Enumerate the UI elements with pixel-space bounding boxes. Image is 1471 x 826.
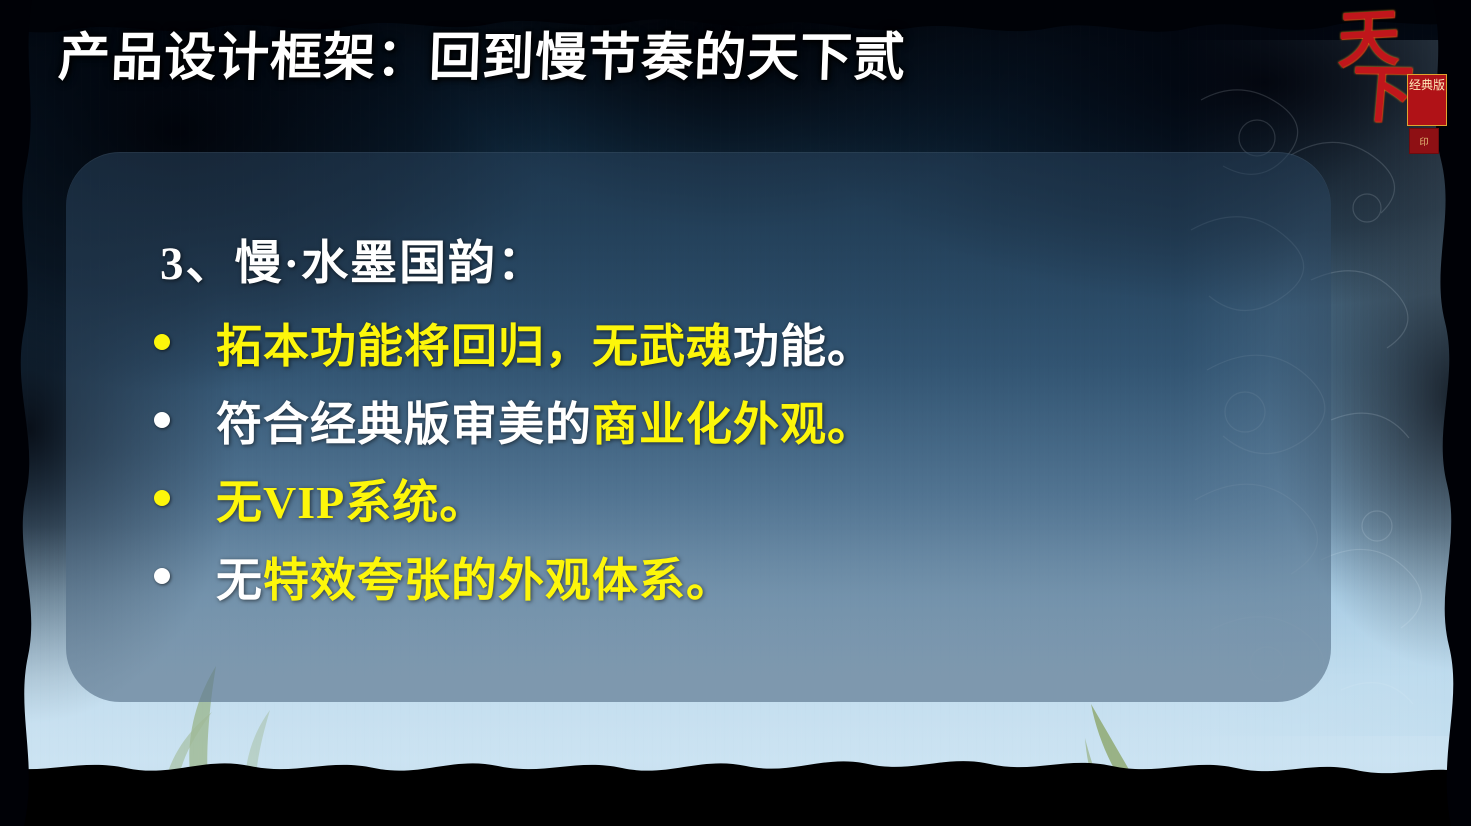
text-segment: 特效夸张的外观体系。	[263, 555, 733, 606]
logo-char-xia: 下	[1348, 67, 1411, 124]
section-heading: 3、慢·水墨国韵：	[160, 232, 1290, 296]
logo-edition-seal: 经典版	[1407, 74, 1447, 126]
page-title: 产品设计框架：回到慢节奏的天下贰	[57, 22, 908, 96]
list-item: 无VIP系统。	[154, 464, 1290, 542]
list-item: 无特效夸张的外观体系。	[154, 542, 1290, 620]
list-item-text: 无VIP系统。	[216, 464, 486, 542]
list-item: 符合经典版审美的商业化外观。	[154, 386, 1290, 464]
list-item: 拓本功能将回归，无武魂功能。	[154, 308, 1290, 386]
logo-stamp-icon: 印	[1409, 128, 1439, 154]
list-item-text: 符合经典版审美的商业化外观。	[216, 386, 874, 464]
list-item-text: 拓本功能将回归，无武魂功能。	[216, 308, 874, 386]
bullet-marker-icon	[154, 490, 170, 506]
bullet-list: 拓本功能将回归，无武魂功能。符合经典版审美的商业化外观。无VIP系统。无特效夸张…	[160, 308, 1290, 620]
bullet-marker-icon	[154, 412, 170, 428]
content-area: 3、慢·水墨国韵： 拓本功能将回归，无武魂功能。符合经典版审美的商业化外观。无V…	[160, 232, 1290, 620]
presentation-slide: 产品设计框架：回到慢节奏的天下贰 天 下 经典版 印 3、慢·水墨国韵： 拓本功…	[0, 0, 1471, 826]
bullet-marker-icon	[154, 334, 170, 350]
text-segment: 无VIP系统。	[216, 477, 486, 528]
bamboo-leaf-decoration-right	[991, 698, 1191, 818]
text-segment: 符合经典版审美的	[216, 399, 592, 450]
logo-calligraphy: 天 下	[1336, 10, 1410, 126]
text-segment: 商业化外观。	[592, 399, 874, 450]
text-segment: 拓本功能将回归，无武魂	[216, 321, 733, 372]
list-item-text: 无特效夸张的外观体系。	[216, 542, 733, 620]
text-segment: 功能。	[733, 321, 874, 372]
text-segment: 无	[216, 555, 263, 606]
brand-logo: 天 下 经典版 印	[1329, 8, 1449, 170]
bullet-marker-icon	[154, 568, 170, 584]
